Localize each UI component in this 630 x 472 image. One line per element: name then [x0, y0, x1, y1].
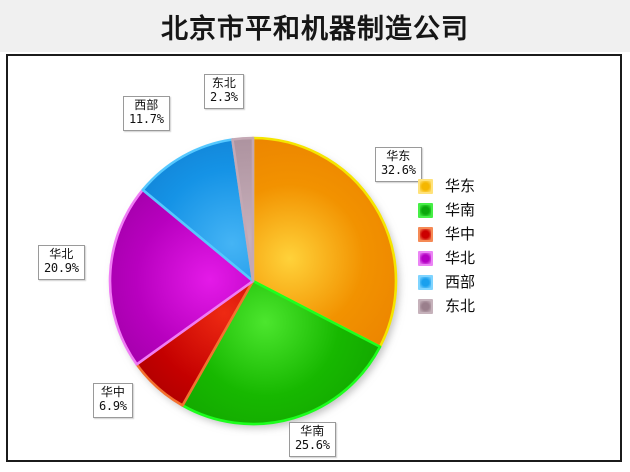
callout-label: 西部: [129, 99, 164, 113]
callout-label: 东北: [210, 77, 238, 91]
plot-area: 东北 2.3% 西部 11.7% 华东 32.6% 华北 20.9% 华中 6.…: [8, 56, 624, 464]
pie-slices[interactable]: [110, 138, 396, 424]
legend-item-label: 西部: [445, 275, 475, 290]
callout-percent: 11.7%: [129, 113, 164, 127]
callout-percent: 20.9%: [44, 262, 79, 276]
callout-percent: 25.6%: [295, 439, 330, 453]
legend-swatch-icon: [418, 203, 433, 218]
legend-item-华东[interactable]: 华东: [418, 174, 558, 198]
callout-huadong: 华东 32.6%: [375, 147, 422, 182]
callout-label: 华南: [295, 425, 330, 439]
legend-swatch-icon: [418, 275, 433, 290]
legend-item-label: 华北: [445, 251, 475, 266]
legend-item-label: 华东: [445, 179, 475, 194]
chart-panel: 东北 2.3% 西部 11.7% 华东 32.6% 华北 20.9% 华中 6.…: [6, 54, 622, 462]
legend-item-华南[interactable]: 华南: [418, 198, 558, 222]
title-band: 北京市平和机器制造公司: [0, 0, 630, 52]
callout-huanan: 华南 25.6%: [289, 422, 336, 457]
legend-item-西部[interactable]: 西部: [418, 270, 558, 294]
callout-percent: 32.6%: [381, 164, 416, 178]
legend-swatch-icon: [418, 299, 433, 314]
legend-item-东北[interactable]: 东北: [418, 294, 558, 318]
callout-label: 华东: [381, 150, 416, 164]
page-title: 北京市平和机器制造公司: [161, 7, 469, 46]
callout-xibu: 西部 11.7%: [123, 96, 170, 131]
legend-item-华中[interactable]: 华中: [418, 222, 558, 246]
callout-percent: 2.3%: [210, 91, 238, 105]
legend-swatch-icon: [418, 227, 433, 242]
legend-item-华北[interactable]: 华北: [418, 246, 558, 270]
legend-swatch-icon: [418, 179, 433, 194]
callout-label: 华北: [44, 248, 79, 262]
callout-huabei: 华北 20.9%: [38, 245, 85, 280]
callout-percent: 6.9%: [99, 400, 127, 414]
legend-swatch-icon: [418, 251, 433, 266]
legend-item-label: 华中: [445, 227, 475, 242]
callout-huazhong: 华中 6.9%: [93, 383, 133, 418]
callout-dongbei: 东北 2.3%: [204, 74, 244, 109]
pie-chart[interactable]: [98, 126, 408, 436]
callout-label: 华中: [99, 386, 127, 400]
legend: 华东华南华中华北西部东北: [418, 174, 558, 318]
legend-item-label: 华南: [445, 203, 475, 218]
legend-item-label: 东北: [445, 299, 475, 314]
